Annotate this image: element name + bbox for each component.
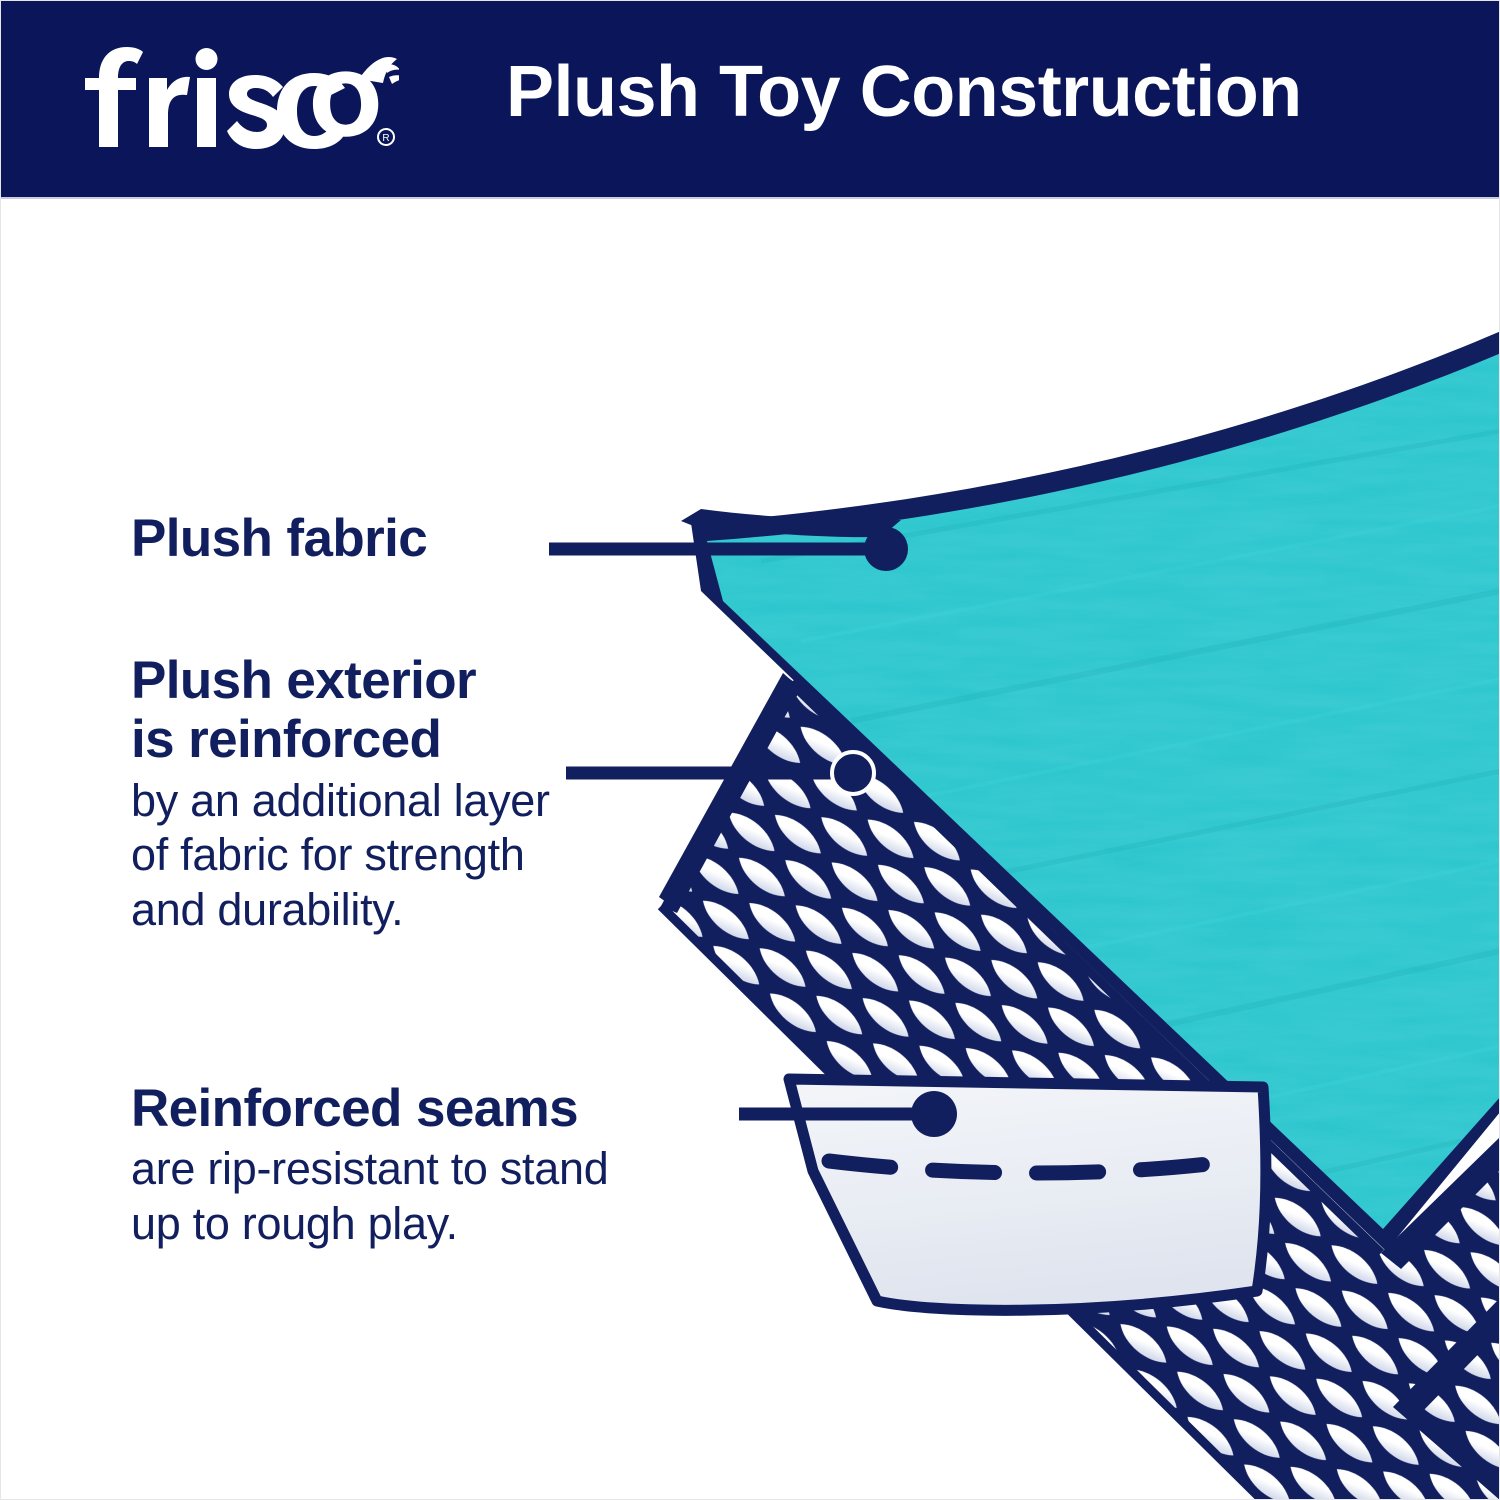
callout-headline: Plush exterior is reinforced (131, 651, 550, 770)
frisco-logo: R (79, 43, 399, 151)
callout-headline: Plush fabric (131, 509, 427, 568)
callout-reinforced-seams: Reinforced seams are rip-resistant to st… (131, 1079, 608, 1251)
leader-dot-plush-exterior (832, 752, 874, 794)
svg-text:R: R (382, 133, 389, 144)
callout-body: are rip-resistant to stand up to rough p… (131, 1142, 608, 1251)
infographic-page: R Plush Toy Construction (0, 0, 1500, 1500)
callout-plush-fabric: Plush fabric (131, 509, 427, 568)
page-title: Plush Toy Construction (506, 51, 1302, 133)
leader-dot-reinforced-seams (911, 1091, 957, 1137)
leader-dot-plush-fabric (864, 527, 908, 571)
callout-headline: Reinforced seams (131, 1079, 608, 1138)
header-bar: R Plush Toy Construction (1, 1, 1500, 199)
callout-plush-exterior: Plush exterior is reinforced by an addit… (131, 651, 550, 937)
registered-trademark-icon: R (378, 129, 394, 145)
callout-body: by an additional layer of fabric for str… (131, 774, 550, 937)
